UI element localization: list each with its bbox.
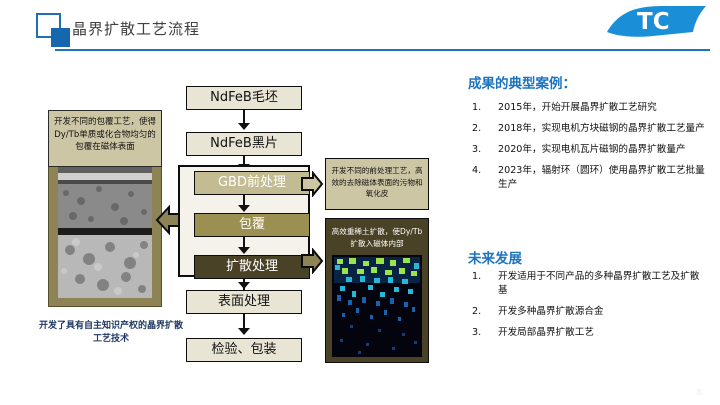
list-item: 2. 2018年，实现电机方块磁钢的晶界扩散工艺量产 (468, 122, 708, 136)
flow-node-ndfeb-blank[interactable]: NdFeB毛坯 (186, 86, 302, 110)
list-item-number: 2. (472, 122, 481, 136)
flow-node-coating[interactable]: 包覆 (194, 213, 310, 237)
callout-diffusion-text: 高效重稀土扩散，使Dy/Tb扩散入磁体内部 (326, 219, 428, 249)
left-panel-caption: 开发了具有自主知识产权的晶界扩散工艺技术 (36, 320, 186, 346)
flow-node-inspection-packaging[interactable]: 检验、包装 (186, 338, 302, 362)
page-number: 8 (697, 388, 702, 397)
list-item-text: 2020年，实现电机瓦片磁钢的晶界扩散量产 (498, 144, 686, 155)
list-item-number: 4. (472, 164, 481, 178)
list-item-number: 1. (472, 101, 481, 115)
flow-node-ndfeb-black[interactable]: NdFeB黑片 (186, 132, 302, 156)
list-item-number: 3. (472, 143, 481, 157)
achievements-list: 1. 2015年，开始开展晶界扩散工艺研究 2. 2018年，实现电机方块磁钢的… (468, 101, 708, 192)
list-item-number: 1. (472, 270, 481, 284)
list-item-text: 2018年，实现电机方块磁钢的晶界扩散工艺量产 (498, 123, 705, 134)
list-item: 4. 2023年，辐射环（圆环）使用晶界扩散工艺批量生产 (468, 164, 708, 192)
slide-root: 晶界扩散工艺流程 TC 开发不同的包覆工艺，使得Dy/Tb单质或化合物均匀的包覆… (0, 0, 720, 405)
tc-logo: TC (603, 2, 710, 46)
list-item: 3. 2020年，实现电机瓦片磁钢的晶界扩散量产 (468, 143, 708, 157)
future-plans-list: 1. 开发适用于不同产品的多种晶界扩散工艺及扩散基 2. 开发多种晶界扩散源合金… (468, 270, 708, 347)
list-item-text: 2015年，开始开展晶界扩散工艺研究 (498, 102, 657, 113)
flow-node-diffusion-treatment[interactable]: 扩散处理 (194, 255, 310, 279)
right-pointing-arrow-2 (300, 248, 324, 274)
square-filled-icon (51, 28, 70, 47)
list-item: 1. 开发适用于不同产品的多种晶界扩散工艺及扩散基 (468, 270, 708, 298)
flow-node-surface-treatment[interactable]: 表面处理 (186, 290, 302, 314)
right-text-panel: 成果的典型案例： 1. 2015年，开始开展晶界扩散工艺研究 2. 2018年，… (468, 72, 708, 199)
list-item-text: 开发适用于不同产品的多种晶界扩散工艺及扩散基 (498, 271, 699, 296)
list-item-number: 2. (472, 305, 481, 319)
list-item: 3. 开发局部晶界扩散工艺 (468, 326, 708, 340)
sem-card-caption: 开发不同的包覆工艺，使得Dy/Tb单质或化合物均匀的包覆在磁体表面 (48, 110, 162, 167)
list-item: 2. 开发多种晶界扩散源合金 (468, 305, 708, 319)
callout-pretreatment: 开发不同的前处理工艺，高效的去除磁体表面的污物和氧化皮 (325, 158, 429, 210)
logo-square-mark (36, 13, 70, 47)
right-pointing-arrow-1 (300, 171, 324, 197)
list-item-text: 开发局部晶界扩散工艺 (498, 327, 594, 338)
svg-text:TC: TC (637, 9, 670, 35)
page-title: 晶界扩散工艺流程 (72, 18, 200, 39)
right-heading-2: 未来发展 (468, 247, 522, 267)
process-flowchart: NdFeB毛坯 NdFeB黑片 GBD前处理 包覆 扩散处理 表面处理 检验、包… (186, 86, 302, 366)
eds-elemental-map-image (332, 255, 422, 357)
list-item-number: 3. (472, 326, 481, 340)
callout-diffusion: 高效重稀土扩散，使Dy/Tb扩散入磁体内部 (325, 218, 429, 363)
list-item-text: 2023年，辐射环（圆环）使用晶界扩散工艺批量生产 (498, 165, 705, 190)
list-item: 1. 2015年，开始开展晶界扩散工艺研究 (468, 101, 708, 115)
header-divider (55, 49, 710, 51)
flow-node-gbd-pretreatment[interactable]: GBD前处理 (194, 171, 310, 195)
list-item-text: 开发多种晶界扩散源合金 (498, 306, 604, 317)
right-heading-1: 成果的典型案例： (468, 72, 708, 92)
sem-cross-section-image (58, 167, 152, 298)
